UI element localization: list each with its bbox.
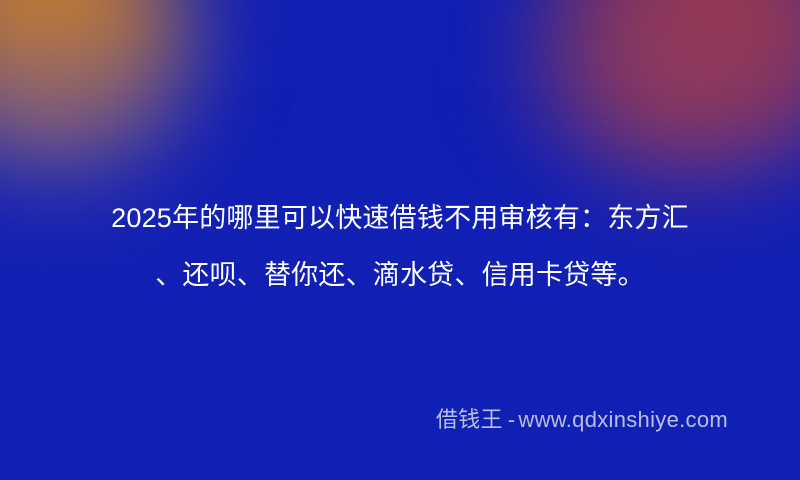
background-blob-orange bbox=[0, 0, 250, 200]
promo-banner: 2025年的哪里可以快速借钱不用审核有：东方汇 、还呗、替你还、滴水贷、信用卡贷… bbox=[0, 0, 800, 480]
background-blob-navy bbox=[520, 0, 780, 180]
watermark-brand: 借钱王 bbox=[436, 407, 503, 432]
headline-line-1: 2025年的哪里可以快速借钱不用审核有：东方汇 bbox=[0, 190, 800, 247]
headline-line-2: 、还呗、替你还、滴水贷、信用卡贷等。 bbox=[0, 247, 800, 304]
headline: 2025年的哪里可以快速借钱不用审核有：东方汇 、还呗、替你还、滴水贷、信用卡贷… bbox=[0, 190, 800, 304]
watermark-url: www.qdxinshiye.com bbox=[518, 407, 728, 432]
watermark: 借钱王-www.qdxinshiye.com bbox=[436, 406, 728, 434]
watermark-separator: - bbox=[508, 407, 516, 432]
